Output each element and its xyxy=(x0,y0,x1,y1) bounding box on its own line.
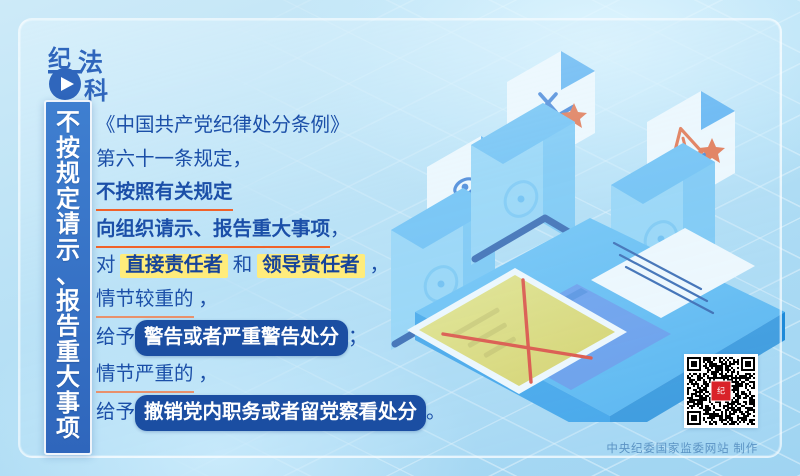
highlighted-term: 直接责任者 xyxy=(120,254,228,278)
underlined-clause: 不按照有关规定 xyxy=(96,177,233,211)
underlined-condition: 情节严重的 xyxy=(96,359,194,393)
legal-text-line: 情节较重的 ， xyxy=(96,284,436,318)
text-segment: ， xyxy=(365,255,389,276)
vertical-title-char: 不 xyxy=(56,111,80,137)
highlighted-term: 领导责任者 xyxy=(257,254,365,278)
legal-text-line: 不按照有关规定 xyxy=(96,177,436,211)
text-segment: 给予 xyxy=(96,327,135,348)
text-segment: 。 xyxy=(426,402,446,423)
logo-char-ji: 纪 xyxy=(48,45,71,71)
legal-text-line: 情节严重的 ， xyxy=(96,359,436,393)
vertical-title-char: 、 xyxy=(56,264,80,290)
legal-text-line: 向组织请示、报告重大事项， xyxy=(96,214,436,248)
vertical-title-char: 事 xyxy=(56,392,80,418)
legal-text-line: 第六十一条规定， xyxy=(96,144,436,175)
text-segment: ， xyxy=(330,219,350,240)
penalty-pill: 撤销党内职务或者留党察看处分 xyxy=(135,395,426,431)
legal-text-block: 《中国共产党纪律处分条例》第六十一条规定，不按照有关规定向组织请示、报告重大事项… xyxy=(96,110,436,434)
penalty-pill: 警告或者严重警告处分 xyxy=(135,320,348,356)
vertical-title-char: 定 xyxy=(56,188,80,214)
text-segment: 给予 xyxy=(96,402,135,423)
vertical-title-char: 告 xyxy=(56,315,80,341)
vertical-title-char: 请 xyxy=(56,213,80,239)
text-segment: ， xyxy=(194,364,218,385)
brand-logo-svg: 纪 法 科 百 xyxy=(42,40,122,102)
text-segment: 《中国共产党纪律处分条例》 xyxy=(96,115,350,136)
underlined-condition: 情节较重的 xyxy=(96,284,194,318)
text-segment: ， xyxy=(194,289,218,310)
text-segment: 和 xyxy=(228,255,257,276)
text-segment: 第六十一条规定， xyxy=(96,149,252,170)
legal-text-line: 给予撤销党内职务或者留党察看处分。 xyxy=(96,395,436,431)
vertical-title-char: 规 xyxy=(56,162,80,188)
text-segment: ； xyxy=(348,327,368,348)
vertical-title-char: 项 xyxy=(56,417,80,443)
vertical-title-char: 按 xyxy=(56,137,80,163)
poster-root: 纪 法 科 百 不按规定请示、报告重大事项 《中国共产党纪律处分条例》第六十一条… xyxy=(0,0,800,476)
site-credit: 中央纪委国家监委网站 制作 xyxy=(606,440,758,456)
legal-text-line: 《中国共产党纪律处分条例》 xyxy=(96,110,436,141)
legal-text-line: 给予警告或者严重警告处分； xyxy=(96,320,436,356)
logo-char-ke: 科 xyxy=(84,78,108,102)
vertical-title-char: 示 xyxy=(56,239,80,265)
legal-text-line: 对 直接责任者 和 领导责任者 ， xyxy=(96,250,436,281)
logo-underline xyxy=(48,70,82,74)
vertical-title-char: 大 xyxy=(56,366,80,392)
underlined-clause: 向组织请示、报告重大事项 xyxy=(96,214,330,248)
text-segment: 对 xyxy=(96,255,120,276)
vertical-title-char: 重 xyxy=(56,341,80,367)
vertical-title-char: 报 xyxy=(56,290,80,316)
qr-code[interactable]: 纪 xyxy=(684,354,758,428)
brand-logo: 纪 法 科 百 xyxy=(42,40,122,102)
vertical-title-banner: 不按规定请示、报告重大事项 xyxy=(44,100,92,455)
qr-center-logo: 纪 xyxy=(711,381,732,402)
